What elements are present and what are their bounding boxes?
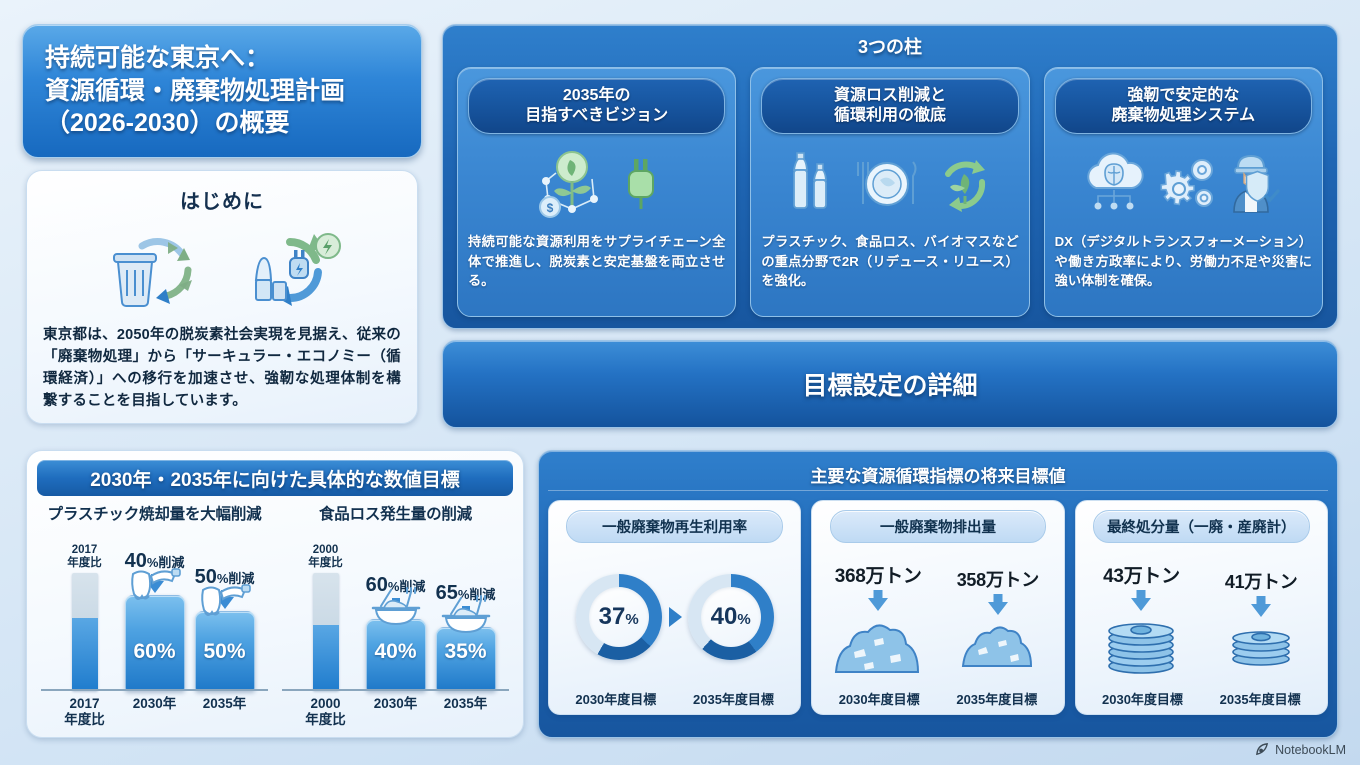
baseline-column: 2000 年度比	[295, 526, 357, 691]
waste-pile-icon	[830, 612, 926, 674]
intro-body-text: 東京都は、2050年の脱炭素社会実現を見据え、従来の「廃棄物処理」から「サーキュ…	[43, 324, 401, 412]
svg-text:$: $	[546, 201, 553, 215]
donut-2035: 40%	[688, 574, 774, 660]
food-plate-icon	[850, 150, 924, 221]
intro-icon-group	[96, 222, 348, 318]
baseline-bar	[313, 573, 339, 691]
bar-chart-title: プラスチック焼却量を大幅削減	[37, 502, 272, 524]
indicator-footer: 2030年度目標 2035年度目標	[557, 689, 792, 708]
bar-chart-plastic: プラスチック焼却量を大幅削減 2017 年度比 40%削減	[37, 502, 272, 727]
baseline-label: 2017 年度比	[67, 544, 102, 570]
plastic-bottles-icon	[784, 150, 840, 221]
bar-charts-row: プラスチック焼却量を大幅削減 2017 年度比 40%削減	[37, 502, 513, 727]
indicator-card-recycling-rate[interactable]: 一般廃棄物再生利用率 37% 40% 2030年度目標	[548, 500, 801, 715]
watermark-label: NotebookLM	[1275, 743, 1346, 757]
stat-2030: 368万トン	[820, 561, 936, 674]
bar-chart-food-loss: 食品ロス発生量の削減 2000 年度比 60%削減	[278, 502, 513, 727]
goals-banner: 目標設定の詳細	[442, 340, 1338, 428]
worker-shield-icon	[1228, 150, 1286, 221]
x-label-2030: 2030年	[124, 696, 186, 727]
x-label-2035: 2035年	[435, 696, 497, 727]
indicator-label-2030: 2030年度目標	[839, 689, 920, 708]
leaf-network-icon: $	[532, 147, 610, 224]
intro-heading: はじめに	[180, 185, 264, 214]
indicator-card-final-disposal[interactable]: 最終処分量（一廃・産廃計） 43万トン	[1075, 500, 1328, 715]
bar-chart-plot: 2000 年度比 60%削減	[278, 526, 513, 691]
pillars-panel: 3つの柱 2035年の 目指すべきビジョン	[442, 24, 1338, 329]
recycle-leaf-icon	[934, 150, 996, 221]
indicator-title: 一般廃棄物再生利用率	[566, 510, 783, 543]
donut-value: 40%	[711, 603, 751, 631]
infographic-root: 持続可能な東京へ： 資源循環・廃棄物処理計画 （2026-2030）の概要 はじ…	[0, 0, 1360, 765]
stat-group: 368万トン 358万トン	[820, 543, 1055, 687]
stat-value: 41万トン	[1225, 568, 1298, 594]
stat-2030: 43万トン	[1084, 561, 1200, 674]
stat-group: 43万トン	[1084, 543, 1319, 687]
food-bowl-icon	[437, 594, 495, 641]
bar-column-2030[interactable]: 60%削減	[365, 526, 427, 691]
x-label-2030: 2030年	[365, 696, 427, 727]
stacked-layers-icon	[1223, 618, 1299, 666]
indicator-label-2035: 2035年度目標	[1220, 689, 1301, 708]
melting-bottle-icon	[127, 566, 183, 609]
indicators-row: 一般廃棄物再生利用率 37% 40% 2030年度目標	[548, 500, 1328, 715]
stat-value: 43万トン	[1103, 561, 1180, 588]
bar-chart-x-labels: 2017 年度比 2030年 2035年	[37, 696, 272, 727]
stat-value: 358万トン	[957, 566, 1039, 592]
baseline-column: 2017 年度比	[54, 526, 116, 691]
watermark: NotebookLM	[1255, 742, 1346, 757]
bar-2035: 35%	[436, 627, 496, 691]
notebooklm-icon	[1255, 742, 1270, 757]
gears-icon	[1160, 152, 1218, 219]
x-label-baseline: 2017 年度比	[54, 696, 116, 727]
bar-chart-x-labels: 2000 年度比 2030年 2035年	[278, 696, 513, 727]
stacked-layers-icon	[1098, 612, 1184, 674]
numeric-targets-card: 2030年・2035年に向けた具体的な数値目標 プラスチック焼却量を大幅削減 2…	[26, 450, 524, 738]
intro-card: はじめに	[26, 170, 418, 424]
food-bowl-icon	[367, 586, 425, 633]
title-card: 持続可能な東京へ： 資源循環・廃棄物処理計画 （2026-2030）の概要	[22, 24, 422, 158]
melting-bottle-icon	[197, 582, 253, 625]
pillar-icon-group: $	[532, 142, 662, 228]
indicator-footer: 2030年度目標 2035年度目標	[820, 689, 1055, 708]
indicator-label-2030: 2030年度目標	[575, 689, 656, 708]
bar-column-2035[interactable]: 65%削減	[435, 526, 497, 691]
pillars-row: 2035年の 目指すべきビジョン	[457, 67, 1323, 317]
indicator-label-2035: 2035年度目標	[956, 689, 1037, 708]
bar-2030: 60%	[125, 595, 185, 691]
bar-2035: 50%	[195, 611, 255, 691]
pillar-icon-group	[784, 142, 996, 228]
progress-arrow-icon	[666, 605, 684, 629]
bar-value: 50%	[203, 640, 245, 664]
bar-value: 60%	[133, 640, 175, 664]
baseline-bar	[72, 573, 98, 691]
goals-banner-heading: 目標設定の詳細	[802, 366, 977, 402]
bar-value: 40%	[374, 640, 416, 664]
pillars-heading: 3つの柱	[443, 33, 1337, 59]
page-title: 持続可能な東京へ： 資源循環・廃棄物処理計画 （2026-2030）の概要	[45, 42, 345, 140]
down-arrow-icon	[1249, 594, 1273, 618]
pillar-card-resilient-system[interactable]: 強靭で安定的な 廃棄物処理システム	[1044, 67, 1323, 317]
donut-2030: 37%	[576, 574, 662, 660]
indicators-panel: 主要な資源循環指標の将来目標値 一般廃棄物再生利用率 37% 40%	[538, 450, 1338, 738]
plug-circular-economy-icon	[238, 222, 348, 319]
pillar-icon-group	[1080, 142, 1286, 228]
pillar-body-text: DX（デジタルトランスフォーメーション）や働き方政率により、労働力不足や災害に強…	[1055, 232, 1312, 290]
pillar-title: 強靭で安定的な 廃棄物処理システム	[1055, 78, 1312, 134]
bar-2030: 40%	[366, 619, 426, 691]
donut-ring: 40%	[688, 574, 774, 660]
indicator-label-2030: 2030年度目標	[1102, 689, 1183, 708]
indicator-footer: 2030年度目標 2035年度目標	[1084, 689, 1319, 708]
indicator-title: 最終処分量（一廃・産廃計）	[1093, 510, 1310, 543]
cloud-brain-icon	[1080, 150, 1150, 221]
indicator-title: 一般廃棄物排出量	[830, 510, 1047, 543]
donut-group: 37% 40%	[557, 543, 792, 687]
bar-chart-title: 食品ロス発生量の削減	[278, 502, 513, 524]
pillar-card-resource-loss[interactable]: 資源ロス削減と 循環利用の徹底	[750, 67, 1029, 317]
numeric-targets-heading: 2030年・2035年に向けた具体的な数値目標	[37, 460, 513, 496]
down-arrow-icon	[986, 592, 1010, 616]
x-label-2035: 2035年	[194, 696, 256, 727]
down-arrow-icon	[1129, 588, 1153, 612]
bar-column-2035[interactable]: 50%削減 50%	[194, 526, 256, 691]
bar-value: 35%	[444, 640, 486, 664]
baseline-label: 2000 年度比	[308, 544, 343, 570]
x-label-baseline: 2000 年度比	[295, 696, 357, 727]
donut-value: 37%	[599, 603, 639, 631]
pillar-title: 資源ロス削減と 循環利用の徹底	[761, 78, 1018, 134]
stat-2035: 41万トン	[1203, 568, 1319, 666]
waste-pile-icon	[958, 616, 1038, 668]
stat-value: 368万トン	[835, 561, 922, 588]
green-plug-icon	[620, 153, 662, 218]
bar-column-2030[interactable]: 40%削減 60%	[124, 526, 186, 691]
pillar-body-text: プラスチック、食品ロス、バイオマスなどの重点分野で2R（リデュース・リユース）を…	[761, 232, 1018, 290]
down-arrow-icon	[866, 588, 890, 612]
indicators-heading: 主要な資源循環指標の将来目標値	[548, 459, 1328, 491]
pillar-title: 2035年の 目指すべきビジョン	[468, 78, 725, 134]
indicator-card-waste-emission[interactable]: 一般廃棄物排出量 368万トン	[811, 500, 1064, 715]
donut-ring: 37%	[576, 574, 662, 660]
bar-chart-plot: 2017 年度比 40%削減	[37, 526, 272, 691]
pillar-body-text: 持続可能な資源利用をサプライチェーン全体で推進し、脱炭素と安定基盤を両立させる。	[468, 232, 725, 290]
pillar-card-vision[interactable]: 2035年の 目指すべきビジョン	[457, 67, 736, 317]
trash-recycle-icon	[96, 224, 204, 317]
stat-2035: 358万トン	[940, 566, 1056, 668]
indicator-label-2035: 2035年度目標	[693, 689, 774, 708]
